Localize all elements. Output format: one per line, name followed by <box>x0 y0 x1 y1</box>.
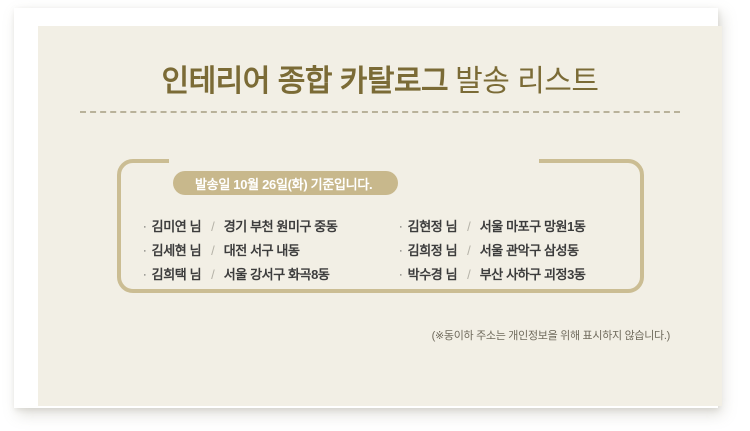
bullet-icon: · <box>399 246 403 257</box>
cream-panel: 인테리어 종합 카탈로그발송 리스트 발송일 10월 26일(화) 기준입니다.… <box>38 26 722 406</box>
bullet-icon: · <box>143 222 147 233</box>
recipient-name: 김세현 님 <box>152 240 201 259</box>
bullet-icon: · <box>143 270 147 281</box>
bullet-icon: · <box>143 246 147 257</box>
tab-notch-mask <box>169 158 539 166</box>
recipient-list: · 김미연 님 / 경기 부천 원미구 중동 · 김세현 님 / 대전 서구 내… <box>143 216 663 288</box>
recipient-column-left: · 김미연 님 / 경기 부천 원미구 중동 · 김세현 님 / 대전 서구 내… <box>143 216 399 288</box>
page-root: 인테리어 종합 카탈로그발송 리스트 발송일 10월 26일(화) 기준입니다.… <box>0 0 750 431</box>
list-item: · 박수경 님 / 부산 사하구 괴정3동 <box>399 264 663 288</box>
recipient-name: 박수경 님 <box>408 264 457 283</box>
recipient-name: 김희정 님 <box>408 240 457 259</box>
list-item: · 김세현 님 / 대전 서구 내동 <box>143 240 399 264</box>
privacy-footnote: (※동이하 주소는 개인정보을 위해 표시하지 않습니다.) <box>38 327 670 343</box>
shipping-date-label: 발송일 10월 26일(화) 기준입니다. <box>195 174 372 193</box>
recipient-name: 김희택 님 <box>152 264 201 283</box>
separator-slash-icon: / <box>211 243 215 258</box>
recipient-name: 김현정 님 <box>408 216 457 235</box>
bullet-icon: · <box>399 270 403 281</box>
shipping-date-banner: 발송일 10월 26일(화) 기준입니다. <box>173 171 398 195</box>
dashed-divider <box>80 111 680 113</box>
separator-slash-icon: / <box>467 219 471 234</box>
page-title: 인테리어 종합 카탈로그발송 리스트 <box>38 56 722 100</box>
bullet-icon: · <box>399 222 403 233</box>
recipient-name: 김미연 님 <box>152 216 201 235</box>
list-item: · 김미연 님 / 경기 부천 원미구 중동 <box>143 216 399 240</box>
page-title-strong: 인테리어 종합 카탈로그 <box>161 65 448 98</box>
recipient-address: 대전 서구 내동 <box>224 240 300 259</box>
recipient-address: 서울 마포구 망원1동 <box>480 216 586 235</box>
white-frame: 인테리어 종합 카탈로그발송 리스트 발송일 10월 26일(화) 기준입니다.… <box>14 8 718 408</box>
separator-slash-icon: / <box>467 267 471 282</box>
recipient-address: 서울 강서구 화곡8동 <box>224 264 330 283</box>
separator-slash-icon: / <box>211 219 215 234</box>
separator-slash-icon: / <box>467 243 471 258</box>
page-title-light: 발송 리스트 <box>455 65 598 98</box>
recipient-address: 부산 사하구 괴정3동 <box>480 264 586 283</box>
recipient-column-right: · 김현정 님 / 서울 마포구 망원1동 · 김희정 님 / 서울 관악구 삼… <box>399 216 663 288</box>
list-item: · 김희정 님 / 서울 관악구 삼성동 <box>399 240 663 264</box>
recipient-address: 경기 부천 원미구 중동 <box>224 216 338 235</box>
separator-slash-icon: / <box>211 267 215 282</box>
recipient-address: 서울 관악구 삼성동 <box>480 240 579 259</box>
list-item: · 김현정 님 / 서울 마포구 망원1동 <box>399 216 663 240</box>
list-item: · 김희택 님 / 서울 강서구 화곡8동 <box>143 264 399 288</box>
